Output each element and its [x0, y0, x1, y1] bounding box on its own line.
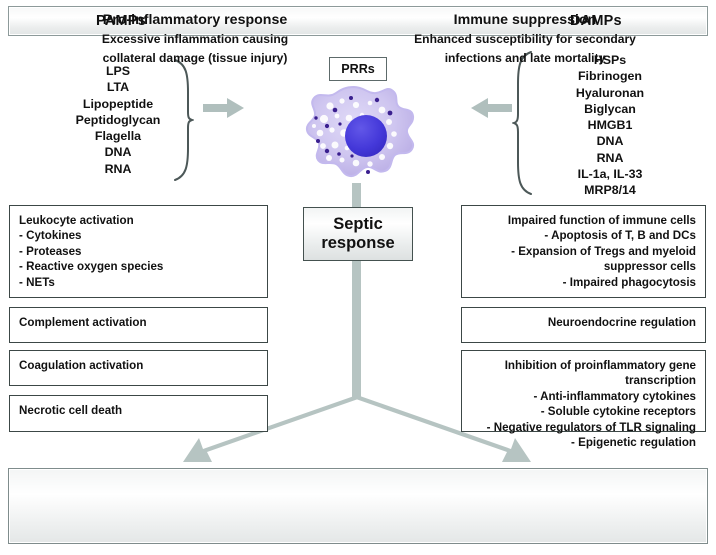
immune-suppression-body: Enhanced susceptibility for secondary in… — [360, 30, 690, 68]
immune-suppression-summary: Immune suppression Enhanced susceptibili… — [360, 11, 690, 68]
coagulation-activation-box: Coagulation activation — [9, 350, 268, 386]
inhibition-gene-transcription-box: Inhibition of proinflammatory gene trans… — [461, 350, 706, 432]
pamps-list: LPS LTA Lipopeptide Peptidoglycan Flagel… — [62, 63, 174, 177]
left-brace-icon — [512, 50, 534, 196]
pro-inflammatory-response-summary: Pro-inflammatory response Excessive infl… — [30, 11, 360, 68]
bottom-summary-panel — [8, 468, 708, 544]
leukocyte-activation-box: Leukocyte activation - Cytokines - Prote… — [9, 205, 268, 298]
pro-inflammatory-response-title: Pro-inflammatory response — [30, 11, 360, 30]
necrotic-cell-death-box: Necrotic cell death — [9, 395, 268, 432]
right-brace-icon — [172, 58, 194, 182]
immune-suppression-title: Immune suppression — [360, 11, 690, 30]
neuroendocrine-regulation-box: Neuroendocrine regulation — [461, 307, 706, 343]
septic-response-box: Septic response — [303, 207, 413, 261]
pro-inflammatory-response-body: Excessive inflammation causing collatera… — [30, 30, 360, 68]
impaired-immune-function-box: Impaired function of immune cells - Apop… — [461, 205, 706, 298]
complement-activation-box: Complement activation — [9, 307, 268, 343]
arrow-left-icon — [470, 97, 512, 119]
immune-cell-icon — [294, 84, 418, 188]
damps-list: HSPs Fibrinogen Hyaluronan Biglycan HMGB… — [540, 52, 680, 199]
arrow-right-icon — [203, 97, 245, 119]
